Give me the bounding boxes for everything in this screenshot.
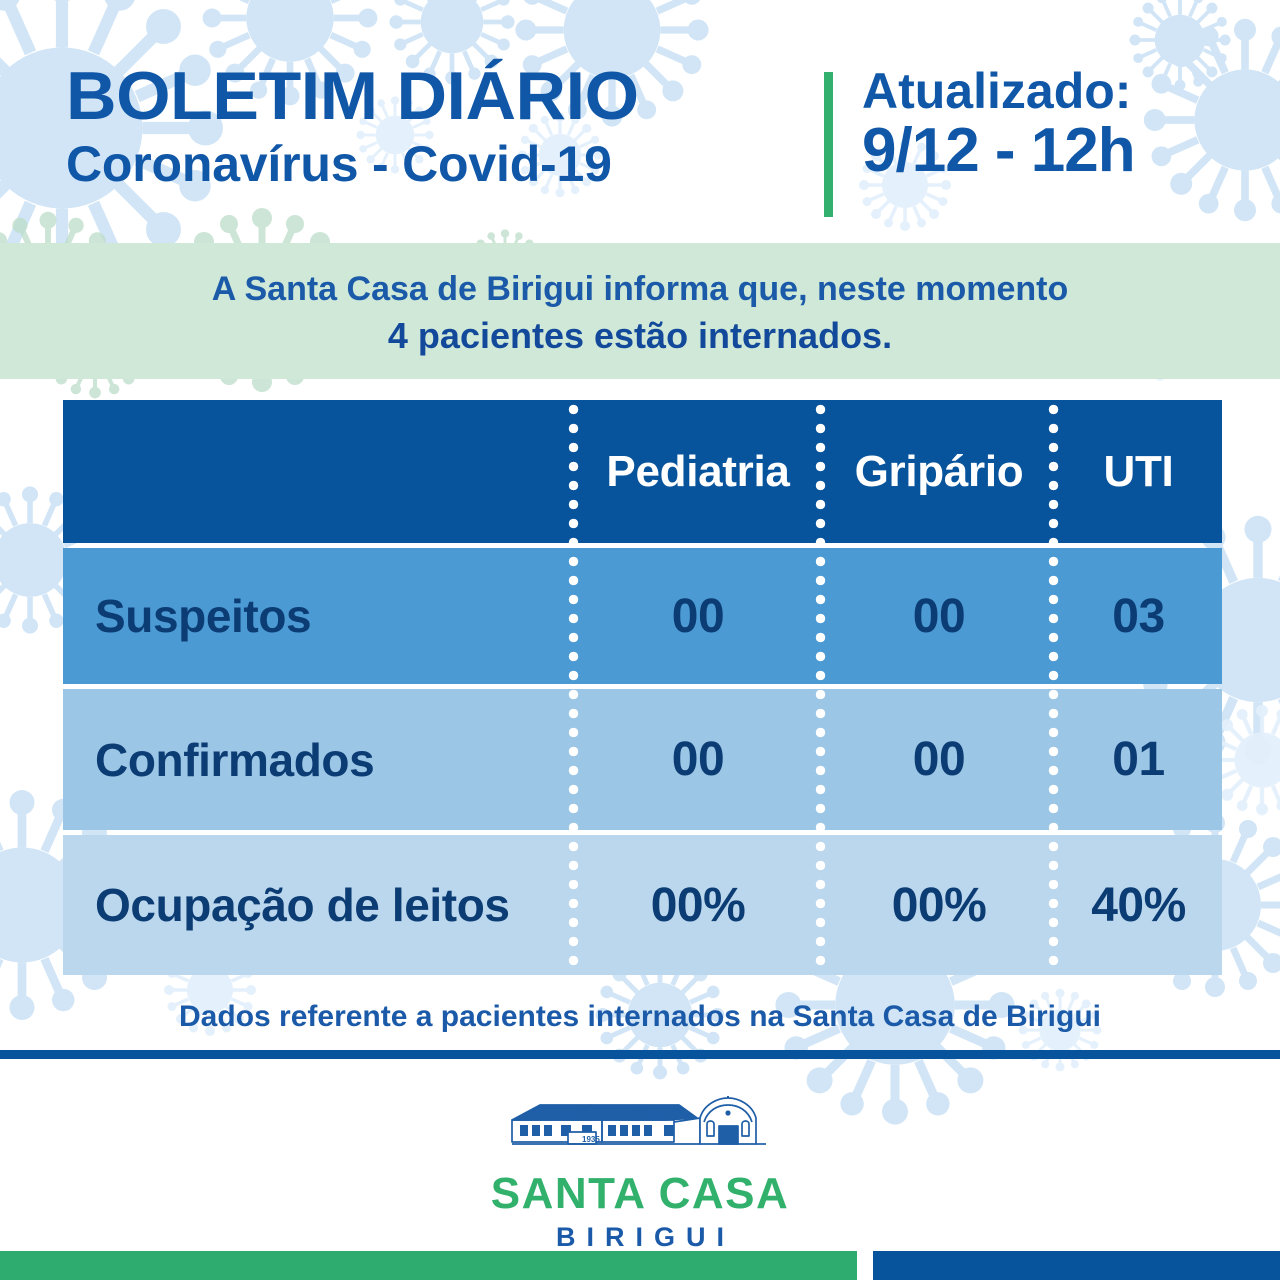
logo-name: SANTA CASA [491, 1172, 790, 1216]
value-confirmados-uti: 01 [1112, 732, 1164, 787]
row-label-ocupacao: Ocupação de leitos [95, 878, 510, 932]
cell-ocupacao-uti: 40% [1055, 835, 1222, 975]
header-cell-uti: UTI [1055, 400, 1222, 543]
logo-city: BIRIGUI [545, 1224, 735, 1251]
table-row: Suspeitos 00 00 03 [63, 548, 1222, 684]
source-note: Dados referente a pacientes internados n… [0, 1000, 1280, 1034]
header-cell-blank [63, 400, 573, 543]
table-row: Ocupação de leitos 00% 00% 40% [63, 835, 1222, 975]
updated-value: 9/12 - 12h [862, 118, 1262, 185]
value-suspeitos-gripario: 00 [913, 589, 965, 644]
poster-header: BOLETIM DIÁRIO Coronavírus - Covid-19 At… [0, 0, 1280, 243]
header-label-uti: UTI [1104, 447, 1174, 497]
value-suspeitos-pediatria: 00 [672, 589, 724, 644]
notice-line-1: A Santa Casa de Birigui informa que, nes… [212, 267, 1068, 312]
notice-band: A Santa Casa de Birigui informa que, nes… [0, 243, 1280, 379]
updated-label: Atualizado: [862, 64, 1262, 118]
header-label-pediatria: Pediatria [606, 447, 789, 497]
header-divider [824, 72, 833, 217]
row-label-cell-ocupacao: Ocupação de leitos [63, 835, 573, 975]
row-label-confirmados: Confirmados [95, 733, 374, 787]
page-subtitle: Coronavírus - Covid-19 [66, 138, 806, 191]
logo-year: 1935 [582, 1135, 600, 1144]
table-row: Confirmados 00 00 01 [63, 689, 1222, 830]
value-ocupacao-gripario: 00% [892, 878, 987, 933]
value-confirmados-pediatria: 00 [672, 732, 724, 787]
cell-suspeitos-pediatria: 00 [573, 548, 823, 684]
cell-confirmados-pediatria: 00 [573, 689, 823, 830]
hospital-building-icon: 1935 [504, 1096, 776, 1166]
value-ocupacao-pediatria: 00% [651, 878, 746, 933]
cell-confirmados-gripario: 00 [823, 689, 1055, 830]
occupancy-table: Pediatria Gripário UTI Suspeitos 00 00 0… [63, 400, 1222, 975]
row-label-cell-suspeitos: Suspeitos [63, 548, 573, 684]
footer-divider-rule [0, 1050, 1280, 1059]
cell-ocupacao-pediatria: 00% [573, 835, 823, 975]
value-suspeitos-uti: 03 [1112, 589, 1164, 644]
footer-bar-blue [873, 1251, 1280, 1280]
updated-group: Atualizado: 9/12 - 12h [862, 64, 1262, 185]
header-label-gripario: Gripário [855, 447, 1024, 497]
value-ocupacao-uti: 40% [1091, 878, 1186, 933]
page-title: BOLETIM DIÁRIO [66, 62, 828, 130]
header-title-group: BOLETIM DIÁRIO Coronavírus - Covid-19 [66, 62, 806, 191]
value-confirmados-gripario: 00 [913, 732, 965, 787]
row-label-cell-confirmados: Confirmados [63, 689, 573, 830]
row-label-suspeitos: Suspeitos [95, 589, 311, 643]
boletim-poster: BOLETIM DIÁRIO Coronavírus - Covid-19 At… [0, 0, 1280, 1280]
header-cell-gripario: Gripário [823, 400, 1055, 543]
notice-line-2: 4 pacientes estão internados. [388, 312, 892, 360]
table-header-row: Pediatria Gripário UTI [63, 400, 1222, 543]
footer-bar-green [0, 1251, 857, 1280]
cell-suspeitos-uti: 03 [1055, 548, 1222, 684]
cell-suspeitos-gripario: 00 [823, 548, 1055, 684]
santa-casa-logo: 1935 SANTA CASA BIRIGUI [0, 1096, 1280, 1251]
header-cell-pediatria: Pediatria [573, 400, 823, 543]
cell-ocupacao-gripario: 00% [823, 835, 1055, 975]
cell-confirmados-uti: 01 [1055, 689, 1222, 830]
